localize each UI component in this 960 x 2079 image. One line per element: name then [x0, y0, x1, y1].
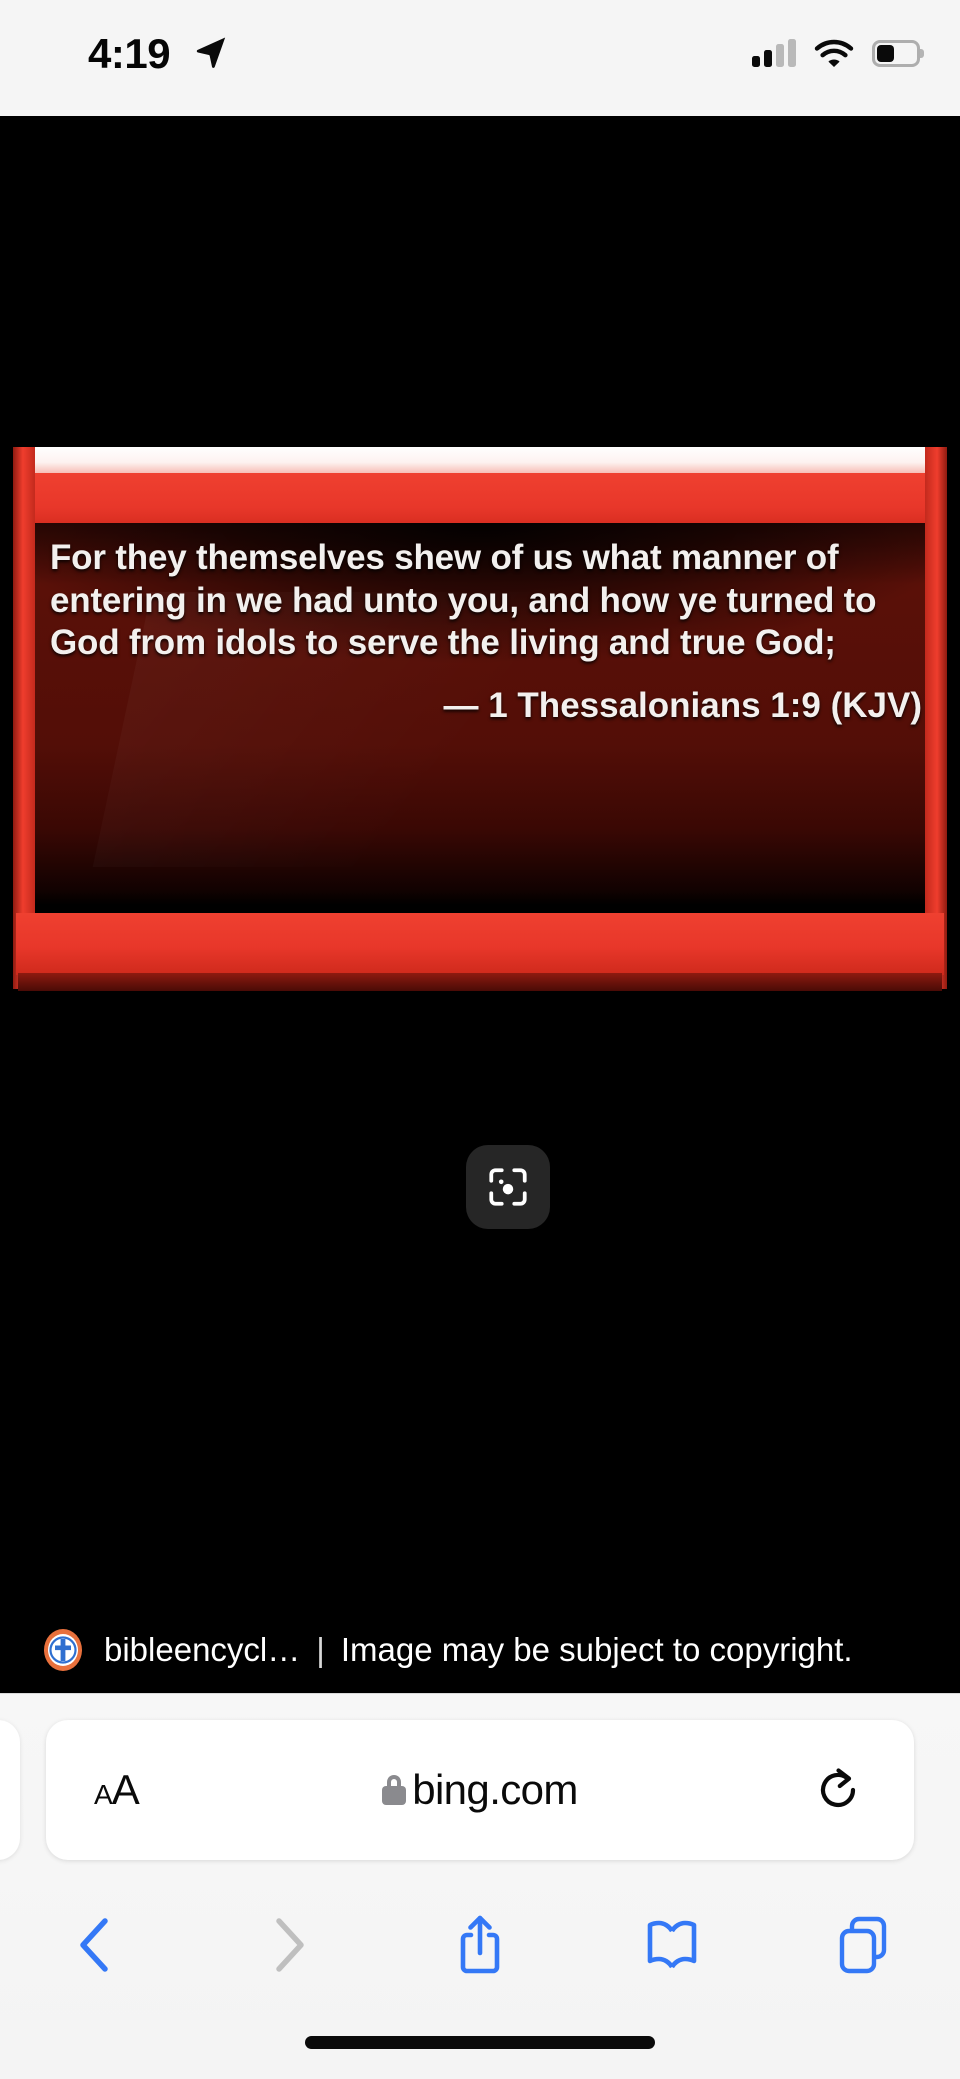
tabs-icon	[836, 1915, 892, 1975]
wifi-icon	[814, 38, 854, 68]
reload-icon	[814, 1766, 862, 1814]
back-button[interactable]	[0, 1915, 192, 1975]
visual-search-lens-icon	[485, 1164, 531, 1210]
chevron-right-icon	[264, 1915, 312, 1975]
url-bar[interactable]: AA bing.com	[46, 1720, 914, 1860]
image-bottom-glow	[18, 973, 942, 991]
image-viewer: For they themselves shew of us what mann…	[0, 116, 960, 1693]
url-display[interactable]: bing.com	[46, 1766, 914, 1814]
forward-button	[192, 1915, 384, 1975]
image-top-highlight	[18, 447, 942, 475]
bookmarks-button[interactable]	[576, 1917, 768, 1973]
image-attribution-caption[interactable]: bibleencycl… | Image may be subject to c…	[0, 1607, 960, 1693]
verse-text: For they themselves shew of us what mann…	[50, 537, 922, 665]
browser-toolbar	[0, 1880, 960, 2010]
book-icon	[642, 1917, 702, 1973]
chevron-left-icon	[72, 1915, 120, 1975]
cellular-signal-icon	[752, 39, 796, 67]
bible-verse-image[interactable]: For they themselves shew of us what mann…	[8, 441, 952, 1001]
home-indicator	[305, 2036, 655, 2049]
status-bar-time: 4:19	[88, 30, 170, 78]
caption-site-name[interactable]: bibleencycl…	[104, 1631, 300, 1669]
caption-separator: |	[316, 1631, 325, 1669]
browser-chrome: AA bing.com	[0, 1693, 960, 2079]
image-right-frame	[925, 447, 947, 989]
lock-icon	[382, 1775, 406, 1805]
image-bottom-frame	[16, 913, 944, 975]
reload-button[interactable]	[814, 1766, 862, 1814]
battery-icon	[872, 40, 924, 67]
visual-search-button[interactable]	[466, 1145, 550, 1229]
image-left-frame	[13, 447, 35, 989]
url-text[interactable]: bing.com	[412, 1766, 578, 1814]
adjacent-tab-sliver[interactable]	[0, 1720, 20, 1860]
status-bar-indicators	[752, 30, 924, 76]
bible-cross-favicon	[44, 1629, 82, 1671]
share-button[interactable]	[384, 1913, 576, 1977]
tabs-button[interactable]	[768, 1915, 960, 1975]
status-bar: 4:19	[0, 0, 960, 116]
caption-copyright-note: Image may be subject to copyright.	[341, 1631, 853, 1669]
share-icon	[454, 1913, 506, 1977]
verse-attribution: — 1 Thessalonians 1:9 (KJV)	[444, 686, 922, 726]
location-arrow-icon	[194, 34, 228, 68]
